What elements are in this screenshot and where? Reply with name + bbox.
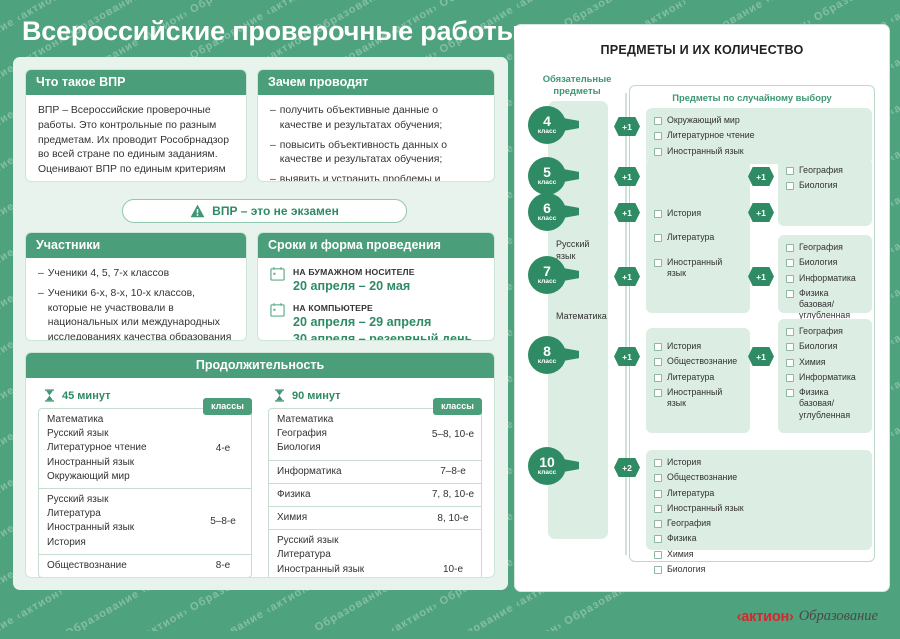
checkbox-icon[interactable] [654,117,662,125]
classes-badge: классы [433,398,482,415]
checkbox-icon[interactable] [786,389,794,397]
table-cell-subjects: Информатика [269,461,425,483]
plus-badge-grade10: +2 [614,458,640,477]
table-row: Физика7, 8, 10-е [269,484,481,507]
subject-box-grade7-second: ГеографияБиологияИнформатикаФизика базов… [778,235,872,313]
subjects-panel-title: ПРЕДМЕТЫ И ИХ КОЛИЧЕСТВО [515,43,889,57]
plus-badge-grade7: +1 [614,267,640,286]
grade-number: 7 [543,264,551,278]
list-item-label: Ученики 4, 5, 7-х классов [48,267,235,282]
dash-marker: – [270,173,276,182]
grade-label: класс [538,180,557,187]
card-why-heading: Зачем проводят [258,70,494,95]
warning-triangle-icon [190,204,205,218]
subject-label: Физика базовая/ углубленная [799,387,864,421]
subject-name: Литература [47,507,189,521]
subject-checkbox-item[interactable]: Информатика [786,372,864,383]
left-panel: Что такое ВПР ВПР – Всероссийские провер… [13,57,508,590]
subject-box-grade8-first: ИсторияОбществознаниеЛитератураИностранн… [646,328,750,433]
subject-label: Биология [799,257,837,268]
subject-name: География [277,427,419,441]
subject-label: Физика [667,533,696,544]
table-row: Русский языкЛитератураИностранный языкИс… [39,489,251,555]
table-cell-subjects: Физика [269,484,425,506]
list-item: –повысить объективность данных о качеств… [270,139,483,169]
list-item: –получить объективные данные о качестве … [270,104,483,134]
subject-checkbox-item[interactable]: Физика базовая/ углубленная [786,288,864,322]
subject-name: Русский язык [47,493,189,507]
subject-checkbox-item[interactable]: География [786,242,864,253]
list-item-label: выявить и устранить проблемы и пробелы в… [280,173,483,182]
subject-name: Математика [277,413,419,427]
table-cell-subjects: Русский языкЛитератураИностранный языкИс… [269,530,425,578]
card-what-is-vpr: Что такое ВПР ВПР – Всероссийские провер… [25,69,247,182]
subject-checkbox-item[interactable]: Литература [654,488,864,499]
checkbox-icon[interactable] [654,132,662,140]
dash-marker: – [38,267,44,282]
checkbox-icon[interactable] [654,148,662,156]
checkbox-icon[interactable] [654,520,662,528]
plus-badge-second-grade6: +1 [748,203,774,222]
subject-label: Физика базовая/ углубленная [799,288,864,322]
dash-marker: – [270,104,276,134]
checkbox-icon[interactable] [654,566,662,574]
subject-label: Иностранный язык [667,257,742,280]
subject-name: Литература [277,548,419,562]
checkbox-icon[interactable] [654,505,662,513]
table-cell-subjects: МатематикаРусский языкЛитературное чтени… [39,409,195,488]
subject-label: География [667,518,711,529]
subject-name: Литературное чтение [47,441,189,455]
subject-name: Иностранный язык [47,521,189,535]
card-participants-heading: Участники [26,233,246,258]
hourglass-icon [44,389,55,402]
subject-checkbox-item[interactable]: Биология [786,180,864,191]
subject-label: География [799,165,843,176]
date-label: НА КОМПЬЮТЕРЕ [293,302,472,314]
list-item-label: Ученики 6-х, 8-х, 10-х классов, которые … [48,287,235,341]
card-duration-heading: Продолжительность [26,353,494,378]
list-item-label: получить объективные данные о качестве и… [280,104,483,134]
subject-checkbox-item[interactable]: Иностранный язык [654,387,742,410]
subject-label: Литература [667,232,714,243]
checkbox-icon[interactable] [786,374,794,382]
checkbox-icon[interactable] [654,343,662,351]
date-value: 20 апреля – 20 мая [293,279,415,295]
table-row: Русский языкЛитератураИностранный языкИс… [269,530,481,578]
random-column-header: Предметы по случайному выбору [630,92,874,103]
grade-label: класс [538,470,557,477]
subject-checkbox-item[interactable]: Информатика [786,273,864,284]
logo-brand-text: ‹актион› [737,609,794,625]
subject-label: История [667,208,701,219]
hourglass-icon [274,389,285,402]
checkbox-icon[interactable] [786,290,794,298]
subject-box-grade4: Окружающий мирЛитературное чтениеИностра… [646,108,872,164]
plus-badge-grade8: +1 [614,347,640,366]
table-row: МатематикаГеографияБиология5–8, 10-е [269,409,481,461]
subject-checkbox-item[interactable]: Иностранный язык [654,257,742,280]
table-cell-subjects: МатематикаГеографияБиология [269,409,425,460]
subject-checkbox-item[interactable]: География [786,326,864,337]
grade-label: класс [538,216,557,223]
table-cell-classes: 4-е [195,409,251,488]
checkbox-icon[interactable] [654,210,662,218]
grade-circle-8[interactable]: 8 класс [528,336,566,374]
table-row: Химия8, 10-е [269,507,481,530]
mandatory-header-line2: предметы [531,85,623,97]
plus-badge-grade4: +1 [614,117,640,136]
mandatory-subject-math: Математика [556,310,612,322]
table-row: Обществознание8-е [39,555,251,577]
subject-label: Иностранный язык [667,146,744,157]
card-why: Зачем проводят –получить объективные дан… [257,69,495,182]
subject-label: Биология [799,180,837,191]
checkbox-icon[interactable] [654,259,662,267]
date-row-computer: НА КОМПЬЮТЕРЕ 20 апреля – 29 апреля 30 а… [270,302,483,341]
checkbox-icon[interactable] [654,474,662,482]
duration-time-label: 90 минут [292,390,340,402]
subject-checkbox-item[interactable]: География [654,518,864,529]
dash-marker: – [38,287,44,341]
date-value: 20 апреля – 29 апреля [293,315,472,331]
checkbox-icon[interactable] [654,358,662,366]
date-label: НА БУМАЖНОМ НОСИТЕЛЕ [293,266,415,278]
subject-name: Русский язык [277,534,419,548]
subject-checkbox-item[interactable]: Иностранный язык [654,503,864,514]
subject-label: Литературное чтение [667,130,755,141]
subject-checkbox-item[interactable]: Обществознание [654,356,742,367]
subject-checkbox-item[interactable]: Обществознание [654,472,864,483]
card-participants: Участники –Ученики 4, 5, 7-х классов –Уч… [25,232,247,341]
subject-name: Иностранный язык [47,456,189,470]
subject-name: Физика [277,488,419,502]
subject-box-grades-5-6-second: ГеографияБиология [778,158,872,226]
card-dates: Сроки и форма проведения НА БУМАЖНОМ НОС… [257,232,495,341]
list-item: –Ученики 4, 5, 7-х классов [38,267,235,282]
subject-box-grade10: ИсторияОбществознаниеЛитератураИностранн… [646,450,872,550]
grade-circle-10[interactable]: 10 класс [528,447,566,485]
table-row: МатематикаРусский языкЛитературное чтени… [39,409,251,489]
footer-bar [0,631,900,639]
checkbox-icon[interactable] [786,259,794,267]
grade-label: класс [538,129,557,136]
subject-checkbox-item[interactable]: Биология [654,564,864,575]
card-what-heading: Что такое ВПР [26,70,246,95]
subject-checkbox-item[interactable]: Литературное чтение [654,130,864,141]
grade-circle-5[interactable]: 5 класс [528,157,566,195]
card-dates-heading: Сроки и форма проведения [258,233,494,258]
calendar-icon [270,266,285,281]
list-item: –выявить и устранить проблемы и пробелы … [270,173,483,182]
checkbox-icon[interactable] [654,459,662,467]
subject-name: История [47,536,189,550]
subject-name: История [277,577,419,578]
list-item: –Ученики 6-х, 8-х, 10-х классов, которые… [38,287,235,341]
plus-badge-grade6: +1 [614,203,640,222]
subject-label: Обществознание [667,356,737,367]
table-cell-classes: 5–8-е [195,489,251,554]
logo-word-text: Образование [799,608,878,625]
duration-table: МатематикаГеографияБиология5–8, 10-еИнфо… [268,408,482,578]
subject-checkbox-item[interactable]: Химия [654,549,864,560]
subject-name: Математика [47,413,189,427]
subject-name: Биология [277,441,419,455]
grade-circle-4[interactable]: 4 класс [528,106,566,144]
duration-table-45min: 45 минутклассыМатематикаРусский языкЛите… [38,386,252,578]
table-cell-classes: 8, 10-е [425,507,481,529]
duration-table: МатематикаРусский языкЛитературное чтени… [38,408,252,578]
card-what-body: ВПР – Всероссийские проверочные работы. … [38,104,235,178]
subject-name: Русский язык [47,427,189,441]
checkbox-icon[interactable] [654,490,662,498]
mandatory-subject-russian: Русский язык [556,238,604,262]
subject-label: Окружающий мир [667,115,740,126]
table-cell-subjects: Обществознание [39,555,195,577]
table-cell-subjects: Химия [269,507,425,529]
grade-label: класс [538,279,557,286]
subject-box-grades-5-6-7-first: ИсторияЛитератураИностранный язык [646,158,750,313]
grade-number: 5 [543,165,551,179]
subject-label: История [667,457,701,468]
subject-name: Обществознание [47,559,189,573]
duration-tables: 45 минутклассыМатематикаРусский языкЛите… [26,378,494,578]
subject-label: История [667,341,701,352]
subject-label: Биология [799,341,837,352]
warning-text: ВПР – это не экзамен [212,204,339,218]
watermark-text: ‹актион› Образование ‹актион› Образовани… [0,0,900,10]
subject-label: Иностранный язык [667,503,744,514]
subject-name: Информатика [277,465,419,479]
subject-checkbox-item[interactable]: Биология [786,341,864,352]
subject-checkbox-item[interactable]: Окружающий мир [654,115,864,126]
vertical-connector-line [625,93,627,555]
subject-checkbox-item[interactable]: История [654,341,742,352]
date-row-paper: НА БУМАЖНОМ НОСИТЕЛЕ 20 апреля – 20 мая [270,266,483,295]
table-cell-classes: 5–8, 10-е [425,409,481,460]
checkbox-icon[interactable] [786,244,794,252]
subject-checkbox-item[interactable]: Физика [654,533,864,544]
grade-circle-7[interactable]: 7 класс [528,256,566,294]
subject-checkbox-item[interactable]: Литература [654,372,742,383]
subject-checkbox-item[interactable]: Биология [786,257,864,268]
date-value-reserve: 30 апреля – резервный день [293,332,472,341]
grade-number: 4 [543,114,551,128]
checkbox-icon[interactable] [654,535,662,543]
checkbox-icon[interactable] [786,359,794,367]
grade-circle-6[interactable]: 6 класс [528,193,566,231]
subject-label: Химия [667,549,694,560]
dash-marker: – [270,139,276,169]
plus-badge-second-grade8: +1 [748,347,774,366]
subject-label: Биология [667,564,705,575]
table-cell-classes: 8-е [195,555,251,577]
checkbox-icon[interactable] [786,328,794,336]
checkbox-icon[interactable] [786,343,794,351]
brand-logo: ‹актион› Образование [737,608,878,625]
subject-checkbox-item[interactable]: Иностранный язык [654,146,864,157]
subject-label: Информатика [799,372,856,383]
duration-table-90min: 90 минутклассыМатематикаГеографияБиологи… [268,386,482,578]
checkbox-icon[interactable] [654,389,662,397]
page-title: Всероссийские проверочные работы [22,16,519,47]
table-row: Информатика7–8-е [269,461,481,484]
subject-name: Окружающий мир [47,470,189,484]
subject-label: Обществознание [667,472,737,483]
subjects-panel: ПРЕДМЕТЫ И ИХ КОЛИЧЕСТВО Обязательные пр… [514,24,890,592]
subject-checkbox-item[interactable]: История [654,208,742,219]
subject-checkbox-item[interactable]: Физика базовая/ углубленная [786,387,864,421]
mandatory-column-header: Обязательные предметы [531,73,623,97]
classes-badge: классы [203,398,252,415]
grade-label: класс [538,359,557,366]
subject-label: География [799,242,843,253]
checkbox-icon[interactable] [786,275,794,283]
subject-label: География [799,326,843,337]
grade-number: 8 [543,344,551,358]
checkbox-icon[interactable] [654,374,662,382]
subject-checkbox-item[interactable]: История [654,457,864,468]
plus-badge-second-grade5: +1 [748,167,774,186]
plus-badge-second-grade7: +1 [748,267,774,286]
checkbox-icon[interactable] [786,167,794,175]
table-cell-classes: 7–8-е [425,461,481,483]
subject-box-grade8-second: ГеографияБиологияХимияИнформатикаФизика … [778,319,872,433]
infographic-page: ‹актион› Образование ‹актион› Образовани… [0,0,900,639]
grade-number: 10 [539,455,555,469]
warning-banner: ВПР – это не экзамен [122,199,407,223]
table-cell-classes: 10-е [425,530,481,578]
subject-label: Информатика [799,273,856,284]
grade-number: 6 [543,201,551,215]
subject-checkbox-item[interactable]: География [786,165,864,176]
subject-label: Литература [667,488,714,499]
subject-label: Литература [667,372,714,383]
table-cell-subjects: Русский языкЛитератураИностранный языкИс… [39,489,195,554]
checkbox-icon[interactable] [654,234,662,242]
subject-label: Химия [799,357,826,368]
duration-time-label: 45 минут [62,390,110,402]
table-cell-classes: 7, 8, 10-е [425,484,481,506]
card-duration: Продолжительность 45 минутклассыМатемати… [25,352,495,578]
checkbox-icon[interactable] [786,182,794,190]
subject-name: Химия [277,511,419,525]
calendar-icon [270,302,285,317]
checkbox-icon[interactable] [654,551,662,559]
subject-checkbox-item[interactable]: Химия [786,357,864,368]
plus-badge-grade5: +1 [614,167,640,186]
subject-name: Иностранный язык [277,563,419,577]
mandatory-header-line1: Обязательные [531,73,623,85]
list-item-label: повысить объективность данных о качестве… [280,139,483,169]
subject-label: Иностранный язык [667,387,742,410]
subject-checkbox-item[interactable]: Литература [654,232,742,243]
